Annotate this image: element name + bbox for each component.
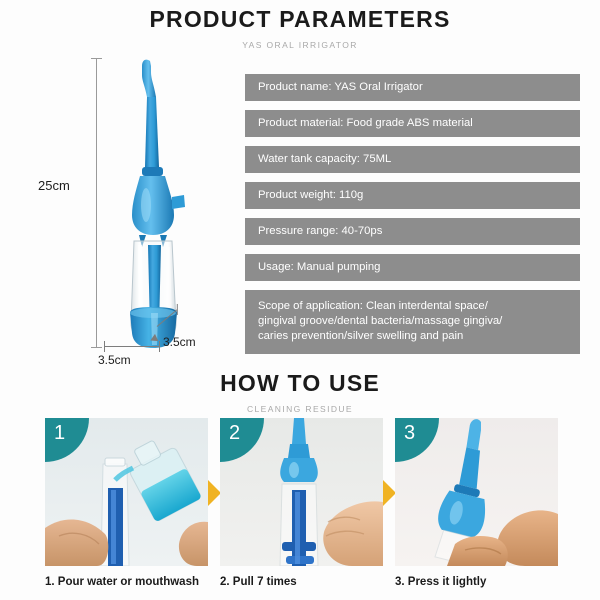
table-row: Product material: Food grade ABS materia… [245,110,580,137]
product-dimension-diagram: 25cm [20,50,230,365]
step-3: 3 3. Press it lightly [395,418,558,588]
section-title: HOW TO USE [0,370,600,397]
page-title: PRODUCT PARAMETERS [0,6,600,33]
how-to-use-header: HOW TO USE CLEANING RESIDUE [0,370,600,414]
oral-irrigator-svg [112,55,204,355]
table-row: Product weight: 110g [245,182,580,209]
step-arrow-2-icon [383,418,395,566]
table-row: Usage: Manual pumping [245,254,580,281]
page-subtitle: YAS ORAL IRRIGATOR [0,40,600,50]
height-dimension-label: 25cm [38,178,70,193]
step-arrow-1-icon [208,418,220,566]
table-row: Product name: YAS Oral Irrigator [245,74,580,101]
step-2: 2 2. Pull 7 times [220,418,383,588]
step-1: 1 1. Pour water or mouthwash [45,418,208,588]
table-row: Pressure range: 40-70ps [245,218,580,245]
product-illustration [112,55,204,360]
table-row: Scope of application: Clean interdental … [245,290,580,354]
section-subtitle: CLEANING RESIDUE [0,404,600,414]
width-dimension-line [104,346,160,347]
step-2-caption: 2. Pull 7 times [220,576,383,588]
table-row: Water tank capacity: 75ML [245,146,580,173]
step-3-caption: 3. Press it lightly [395,576,558,588]
step-3-photo: 3 [395,418,558,566]
step-1-caption: 1. Pour water or mouthwash [45,576,208,588]
step-1-photo: 1 [45,418,208,566]
step-2-photo: 2 [220,418,383,566]
width-dimension-label: 3.5cm [98,353,131,367]
parameters-table: Product name: YAS Oral Irrigator Product… [245,74,580,363]
product-parameters-header: PRODUCT PARAMETERS YAS ORAL IRRIGATOR [0,6,600,50]
product-infographic: PRODUCT PARAMETERS YAS ORAL IRRIGATOR 25… [0,0,600,600]
how-to-use-steps: 1 1. Pour water or mouthwash [45,418,558,588]
depth-dimension-label: 3.5cm [163,335,196,349]
height-dimension-line [96,58,97,348]
